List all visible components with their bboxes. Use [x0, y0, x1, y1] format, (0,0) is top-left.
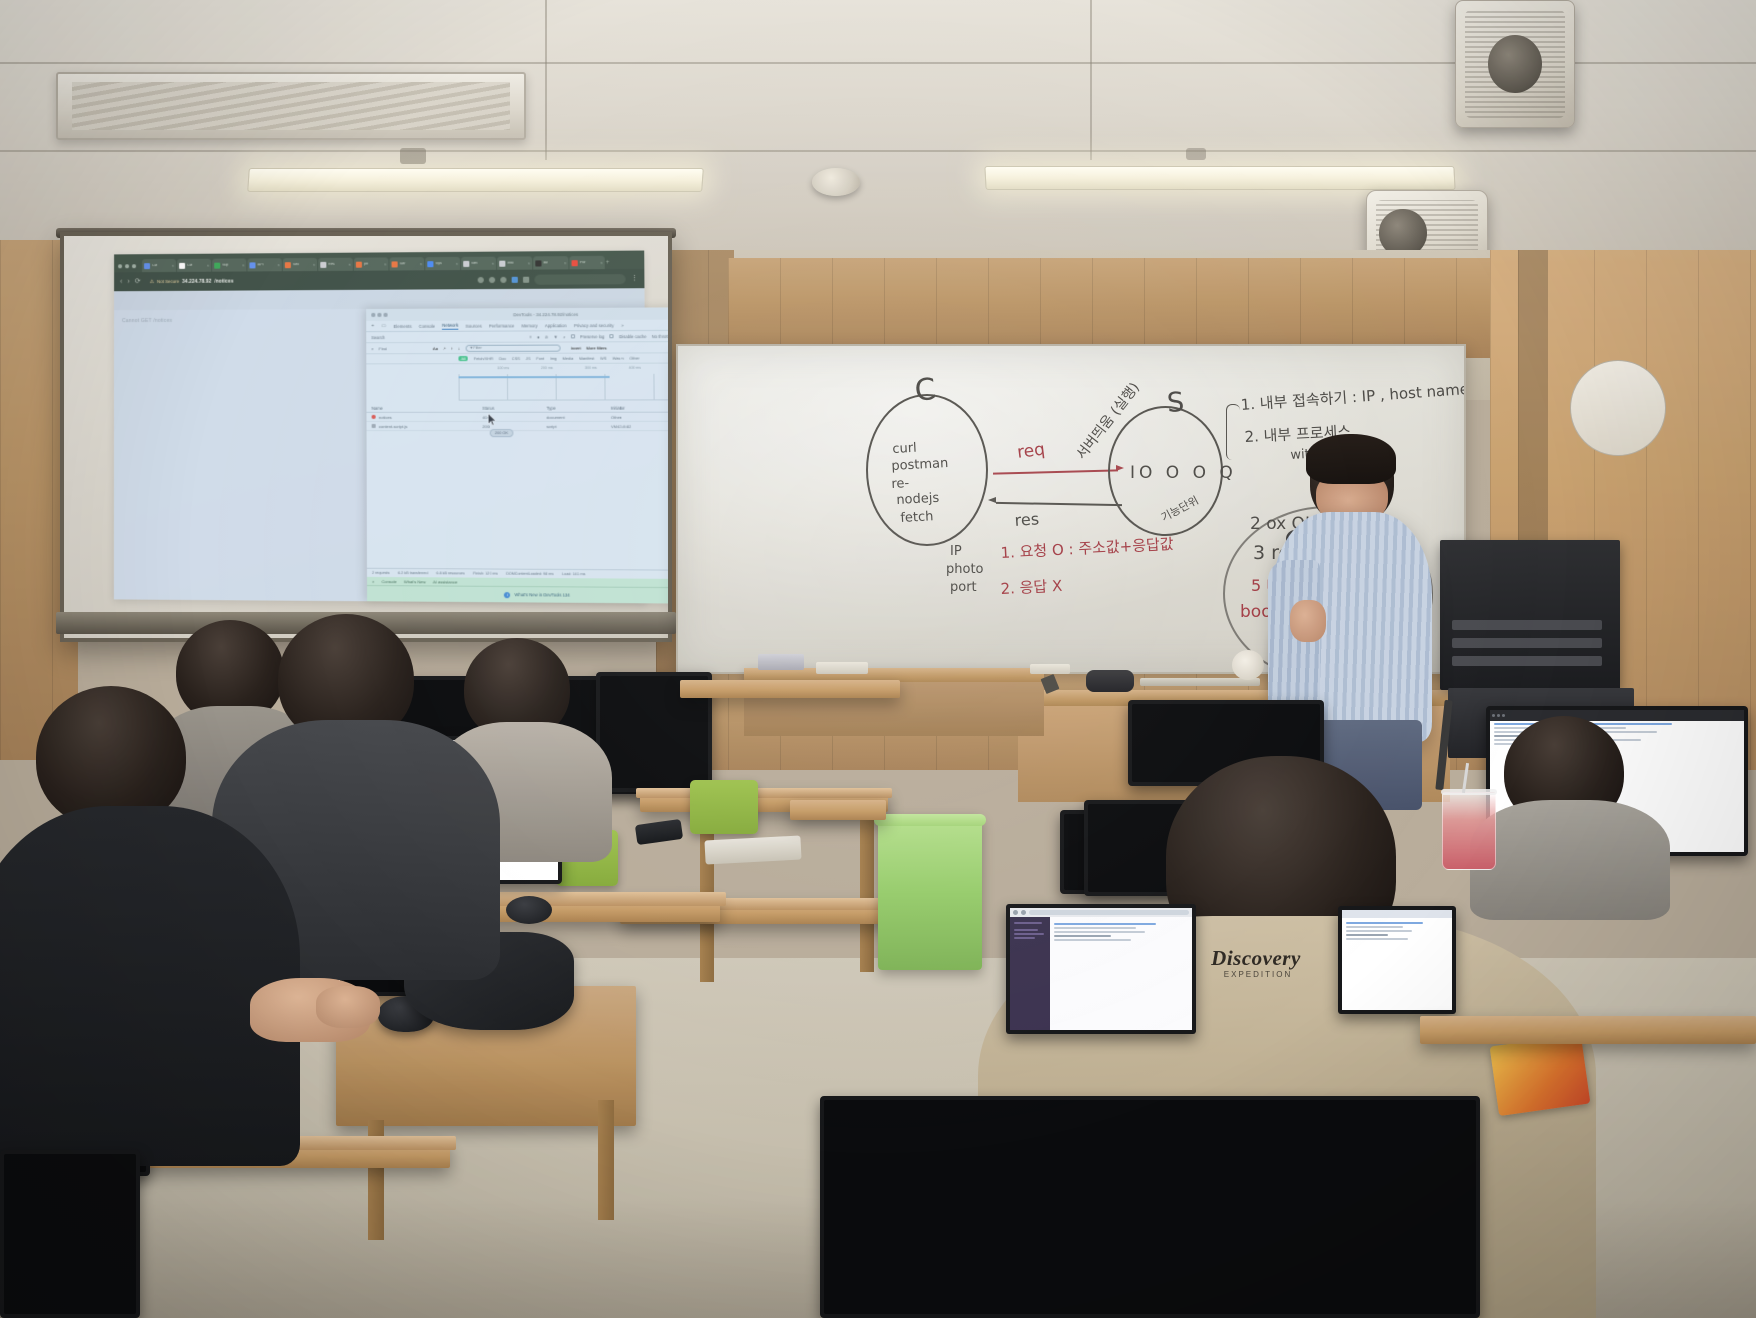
tab-favicon-icon	[499, 260, 505, 266]
column-header-name[interactable]: Name	[372, 405, 483, 410]
window-dot-icon	[1497, 714, 1500, 717]
address-bar	[1029, 910, 1189, 915]
maximize-icon[interactable]	[132, 264, 136, 268]
forward-icon[interactable]: ›	[127, 278, 129, 285]
browser-tab-strip[interactable]: Cla × Cla × Sup ×	[114, 251, 644, 273]
address-bar[interactable]: ⚠ Not Secure 34.224.78.92 /notices	[146, 274, 473, 287]
whats-new-text[interactable]: What's New in DevTools 134	[515, 592, 570, 598]
close-search-icon[interactable]: ×	[529, 334, 532, 339]
jacket-brand-subtext: EXPEDITION	[1198, 968, 1318, 980]
browser-tab[interactable]: Sec ×	[283, 258, 317, 271]
tab-title: Sys	[435, 262, 441, 266]
toolbar-icons[interactable]	[478, 276, 530, 282]
browser-tab[interactable]: prt ×	[354, 257, 389, 270]
find-label: Find	[379, 346, 387, 351]
browser-tab[interactable]: Sup ×	[212, 258, 246, 271]
instructor-hand	[1290, 600, 1326, 642]
marker	[1030, 664, 1070, 674]
browser-tab[interactable]: Rev ×	[318, 258, 353, 271]
tab-title: Ser	[400, 262, 406, 266]
tab-title: prt	[364, 262, 368, 266]
match-case-icon[interactable]: Aa	[433, 345, 438, 350]
security-status-label: Not Secure	[157, 279, 179, 284]
regex-icon[interactable]: .*	[443, 345, 446, 350]
window-control-buttons[interactable]	[371, 313, 387, 317]
menu-icon[interactable]: ⋮	[631, 275, 638, 282]
monitor-foreground-bottom	[820, 1096, 1480, 1318]
invert-label[interactable]: Invert	[571, 345, 581, 350]
tab-favicon-icon	[214, 262, 220, 268]
cell-initiator: VM43:8:82	[611, 423, 668, 428]
browser-tab[interactable]: Ser ×	[389, 257, 424, 270]
wall-speaker-top-right	[1455, 0, 1575, 128]
tab-console[interactable]: Console	[419, 323, 435, 328]
back-icon[interactable]: ‹	[120, 278, 122, 285]
monitor-foreground-left	[0, 1150, 140, 1318]
laptop-browser-toolbar	[1342, 910, 1452, 918]
maximize-icon[interactable]	[384, 313, 388, 317]
tab-memory[interactable]: Memory	[522, 323, 538, 328]
tissue-box	[1232, 650, 1264, 680]
desk-edge	[636, 788, 892, 798]
filter-placeholder: Filter	[473, 346, 482, 350]
student-hand-1b	[316, 986, 380, 1028]
browser-tab[interactable]: Bit ×	[533, 256, 568, 269]
wall-clock	[1570, 360, 1666, 456]
whiteboard-res-arrow-line	[996, 502, 1122, 506]
network-requests-table[interactable]: Name Status Type Initiator notices	[366, 403, 668, 431]
tab-close-icon[interactable]: ×	[384, 261, 386, 266]
status-transferred: 6.2 kB transferred	[398, 571, 428, 575]
filter-js[interactable]: JS	[526, 356, 531, 361]
whiteboard-right-note: 1. 내부 접속하기 : IP , host name	[1240, 378, 1466, 415]
whiteboard-bottom-note: port	[950, 580, 977, 595]
back-icon	[1013, 910, 1018, 915]
screen-content-laptop-right-2	[1342, 910, 1452, 1010]
profile-icon[interactable]	[478, 276, 484, 282]
whiteboard-bottom-note: IP	[950, 544, 962, 559]
status-tooltip: 200 OK	[490, 429, 514, 437]
filter-media[interactable]: Media	[562, 356, 573, 361]
green-chair-1	[690, 780, 758, 834]
devtools-window[interactable]: DevTools - 34.224.78.92/notices ⌖ ▭ Elem…	[366, 307, 668, 604]
tab-network[interactable]: Network	[442, 322, 458, 329]
drawer-close-icon[interactable]: ×	[372, 578, 374, 583]
tab-title: Por	[580, 261, 586, 265]
tab-title: Net	[471, 262, 477, 266]
tab-close-icon[interactable]: ×	[456, 261, 458, 266]
disable-cache-checkbox[interactable]	[610, 334, 614, 338]
ceiling-sensor	[1186, 148, 1206, 160]
laptop-main-area	[1050, 917, 1192, 1030]
tab-application[interactable]: Application	[545, 323, 567, 328]
cell-name[interactable]: notices	[372, 414, 483, 419]
resource-type-filters[interactable]: All Fetch/XHR Doc CSS JS Font Img Media …	[366, 353, 668, 364]
projector-screen-surface: Cla × Cla × Sup ×	[64, 236, 668, 638]
table-row[interactable]: content-script.js 200 script VM43:8:82	[366, 422, 668, 431]
disable-cache-label[interactable]: Disable cache	[619, 334, 646, 339]
devtools-drawer[interactable]: × Console What's New AI assistance i Wha…	[367, 577, 668, 604]
status-resources: 6.8 kB resources	[436, 571, 465, 575]
monitor-panel	[824, 1100, 1476, 1314]
computer-mouse	[506, 896, 552, 924]
tab-close-icon[interactable]: ×	[600, 260, 602, 265]
laptop-closed	[704, 836, 801, 865]
search-icon[interactable]: ⌕	[371, 346, 373, 351]
projected-browser-image: Cla × Cla × Sup ×	[114, 251, 647, 604]
rack-unit	[1452, 656, 1602, 666]
device-toolbar-icon[interactable]: ▭	[381, 323, 386, 329]
tab-performance[interactable]: Performance	[489, 323, 514, 328]
whiteboard-bottom-note: 1. 요청 O : 주소값+응답값	[1000, 533, 1174, 563]
chrome-browser-window[interactable]: Cla × Cla × Sup ×	[114, 251, 647, 604]
whiteboard-res-label: res	[1014, 509, 1040, 530]
cell-name[interactable]: content-script.js	[372, 423, 483, 428]
drawer-tab-whats-new[interactable]: What's New	[404, 579, 426, 584]
tab-elements[interactable]: Elements	[393, 323, 411, 328]
preserve-log-checkbox[interactable]	[571, 334, 575, 338]
network-timeline-overview[interactable]: 100 ms 200 ms 300 ms 400 ms 500 ms	[458, 364, 668, 401]
filter-all[interactable]: All	[458, 356, 468, 361]
browser-tab[interactable]: API ×	[247, 258, 281, 271]
browser-tab[interactable]: Sys ×	[425, 257, 460, 270]
browser-tab[interactable]: Net ×	[461, 257, 496, 270]
desk-leg	[860, 812, 874, 972]
minimize-icon[interactable]	[377, 313, 381, 317]
tab-search-box[interactable]	[534, 274, 625, 285]
ceiling-speaker	[812, 168, 860, 196]
tab-close-icon[interactable]: ×	[348, 262, 350, 267]
tab-sources[interactable]: Sources	[466, 323, 482, 328]
more-tabs-icon[interactable]: »	[621, 322, 624, 327]
minimize-icon[interactable]	[125, 264, 129, 268]
speaker-cone	[1488, 35, 1542, 93]
filter-img[interactable]: Img	[550, 356, 557, 361]
ceiling-panel-seam	[545, 0, 547, 160]
tab-close-icon[interactable]: ×	[492, 261, 494, 266]
whiteboard-req-arrow-line	[993, 469, 1118, 474]
projector-screen: Cla × Cla × Sup ×	[60, 232, 672, 642]
gemini-icon[interactable]	[512, 276, 518, 282]
desk-back-center	[680, 680, 900, 698]
tab-close-icon[interactable]: ×	[277, 262, 279, 267]
throttling-select[interactable]: No throttling	[652, 333, 668, 338]
bin-lip	[874, 814, 986, 826]
rack-unit	[1452, 638, 1602, 648]
extensions-icon[interactable]	[489, 276, 495, 282]
cell-type: document	[546, 414, 610, 419]
new-tab-button[interactable]: +	[606, 260, 610, 269]
cell-status: 404	[482, 414, 546, 419]
fluorescent-light-right	[984, 166, 1455, 190]
devtools-window-title: DevTools - 34.224.78.92/notices	[391, 311, 668, 318]
drawer-tab-ai-assistance[interactable]: AI assistance	[433, 579, 458, 584]
laptop-front-right	[1006, 904, 1196, 1034]
student-body-1	[0, 806, 300, 1166]
marker-tray-item	[816, 662, 868, 674]
whiteboard-client-circle	[866, 394, 988, 546]
tab-title: Rev	[328, 263, 335, 267]
tab-title: Cla	[187, 264, 192, 268]
tab-favicon-icon	[463, 260, 469, 266]
whiteboard-res-arrowhead	[988, 497, 996, 503]
browser-tab[interactable]: info ×	[497, 256, 532, 269]
search-panel-label: Search	[371, 335, 385, 340]
tab-favicon-icon	[356, 261, 362, 267]
tab-favicon-icon	[427, 261, 433, 267]
url-path: /notices	[214, 278, 233, 284]
screen-topbar	[1490, 710, 1744, 721]
timeline-tick: 400 ms	[629, 366, 641, 370]
column-header-initiator[interactable]: Initiator	[611, 405, 668, 410]
whiteboard-bottom-note: photo	[946, 562, 984, 577]
laptop-panel	[1342, 910, 1452, 1010]
whiteboard-bottom-note: 2. 응답 X	[1000, 575, 1063, 599]
screen-content-laptop-right	[1010, 908, 1192, 1030]
info-icon: i	[504, 592, 510, 598]
browser-tab[interactable]: Cla ×	[142, 259, 176, 272]
smartphone	[635, 819, 683, 845]
window-control-buttons[interactable]	[118, 264, 136, 272]
tab-title: Cla	[152, 264, 157, 268]
instructor-hair	[1306, 434, 1396, 484]
air-conditioner-vent	[56, 72, 526, 140]
monitor-panel	[4, 1154, 136, 1314]
forward-icon	[1021, 910, 1026, 915]
tab-favicon-icon	[572, 260, 578, 266]
tab-privacy-and-security[interactable]: Privacy and security	[574, 322, 614, 327]
laptop-sidebar	[1010, 917, 1050, 1030]
window-dot-icon	[1502, 714, 1505, 717]
split-view-icon[interactable]	[523, 276, 529, 282]
status-load: Load: 141 ms	[562, 572, 585, 576]
fluorescent-light-left	[247, 168, 704, 192]
av-equipment-rack	[1440, 540, 1620, 690]
tab-favicon-icon	[179, 262, 185, 268]
tab-favicon-icon	[285, 262, 291, 268]
recycling-bin	[878, 814, 982, 970]
preserve-log-label[interactable]: Preserve log	[580, 334, 604, 339]
whiteboard-eraser	[758, 654, 804, 670]
iced-drink-cup	[1442, 792, 1496, 870]
script-file-icon	[372, 424, 376, 428]
request-name: content-script.js	[379, 423, 408, 428]
laptop-panel	[1010, 908, 1192, 1030]
filter-input[interactable]: ▼ Filter	[465, 344, 560, 351]
tab-close-icon[interactable]: ×	[564, 260, 566, 265]
browser-toolbar[interactable]: ‹ › ⟳ ⚠ Not Secure 34.224.78.92 /notices	[114, 269, 644, 291]
browser-tab[interactable]: Por ×	[569, 256, 604, 269]
vent-slats	[72, 82, 510, 130]
ceiling-panel-seam	[0, 150, 1756, 152]
cell-initiator: Other	[611, 414, 668, 419]
rack-unit	[1452, 620, 1602, 630]
column-header-status[interactable]: Status	[482, 405, 546, 410]
desk-far-right	[1420, 1016, 1756, 1044]
request-name: notices	[379, 414, 392, 419]
student-body-7	[1470, 800, 1670, 920]
timeline-tick: 100 ms	[497, 366, 509, 370]
tab-favicon-icon	[320, 261, 326, 267]
inspect-icon[interactable]: ⌖	[371, 323, 374, 329]
filter-other[interactable]: Other	[629, 356, 639, 361]
whats-new-banner[interactable]: i What's New in DevTools 134	[367, 586, 668, 604]
tab-title: Bit	[544, 261, 548, 265]
column-header-type[interactable]: Type	[546, 405, 610, 410]
tab-close-icon[interactable]: ×	[242, 262, 244, 267]
tab-close-icon[interactable]: ×	[313, 262, 315, 267]
filter-css[interactable]: CSS	[512, 356, 520, 361]
laptop-front-right-2	[1338, 906, 1456, 1014]
filter-font[interactable]: Font	[536, 356, 544, 361]
tab-favicon-icon	[144, 263, 150, 269]
timeline-tick: 300 ms	[585, 366, 597, 370]
window-dot-icon	[1492, 714, 1495, 717]
table-row[interactable]: notices 404 document Other	[366, 413, 668, 422]
timeline-tick: 200 ms	[541, 366, 553, 370]
filter-manifest[interactable]: Manifest	[579, 356, 594, 361]
eraser-block	[1086, 670, 1134, 692]
search-icon[interactable]: ⌕	[563, 334, 565, 339]
drawer-tab-console[interactable]: Console	[382, 579, 397, 584]
desk-right-small	[790, 800, 886, 820]
status-finish: Finish: 120 ms	[473, 571, 498, 575]
bookmark-icon[interactable]	[500, 276, 506, 282]
tab-title: Sup	[222, 263, 228, 267]
filter-icon[interactable]: ▼	[554, 334, 558, 339]
warning-icon: ⚠	[150, 279, 154, 285]
tab-close-icon[interactable]: ×	[207, 263, 209, 268]
cell-status: 200	[482, 423, 546, 428]
tab-favicon-icon	[392, 261, 398, 267]
close-icon[interactable]	[371, 313, 375, 317]
tab-title: info	[507, 261, 513, 265]
filter-fetch-xhr[interactable]: Fetch/XHR	[474, 356, 494, 361]
snack-bag	[1490, 1034, 1591, 1116]
cup-lid	[1441, 789, 1497, 795]
browser-tab[interactable]: Cla ×	[177, 259, 211, 272]
close-icon[interactable]	[118, 264, 122, 268]
reload-icon[interactable]: ⟳	[135, 278, 141, 285]
ceiling-sensor	[400, 148, 426, 164]
whiteboard-server-circle	[1108, 406, 1223, 536]
tab-close-icon[interactable]: ×	[528, 260, 530, 265]
network-find-and-filter-row[interactable]: ⌕ Find Aa .* ↑ ↓ ▼ Filter Invert	[366, 342, 668, 354]
page-body-text: Cannot GET /notices	[122, 318, 172, 324]
tab-title: Sec	[293, 263, 299, 267]
filter-wasm[interactable]: Wasm	[612, 356, 623, 361]
whiteboard-brace	[1226, 404, 1240, 460]
find-next-icon[interactable]: ↓	[458, 345, 460, 350]
cell-type: script	[547, 423, 611, 428]
more-filters-button[interactable]: More filters	[586, 345, 607, 350]
filter-doc[interactable]: Doc	[499, 356, 506, 361]
record-icon[interactable]: ●	[537, 334, 540, 339]
whiteboard-req-label: req	[1016, 440, 1046, 463]
filter-ws[interactable]: WS	[600, 356, 607, 361]
desk-leg	[598, 1100, 614, 1220]
status-domcontentloaded: DOMContentLoaded: 98 ms	[506, 572, 554, 576]
jacket-brand-text: Discovery	[1186, 948, 1326, 968]
wood-wall-above-whiteboard	[728, 258, 1518, 358]
url-host: 34.224.78.92	[182, 278, 211, 284]
clear-icon[interactable]: ⊘	[545, 334, 549, 339]
tab-favicon-icon	[535, 260, 541, 266]
tab-close-icon[interactable]: ×	[172, 263, 174, 268]
error-status-icon	[372, 415, 376, 419]
status-requests: 2 requests	[372, 571, 390, 575]
tab-close-icon[interactable]: ×	[420, 261, 422, 266]
tab-favicon-icon	[249, 262, 255, 268]
find-prev-icon[interactable]: ↑	[451, 345, 453, 350]
tab-title: API	[258, 263, 264, 267]
ceiling-panel-seam	[1090, 0, 1092, 160]
table-header-row[interactable]: Name Status Type Initiator	[366, 403, 668, 412]
classroom-photo: Cla × Cla × Sup ×	[0, 0, 1756, 1318]
laptop-browser-toolbar	[1010, 908, 1192, 917]
